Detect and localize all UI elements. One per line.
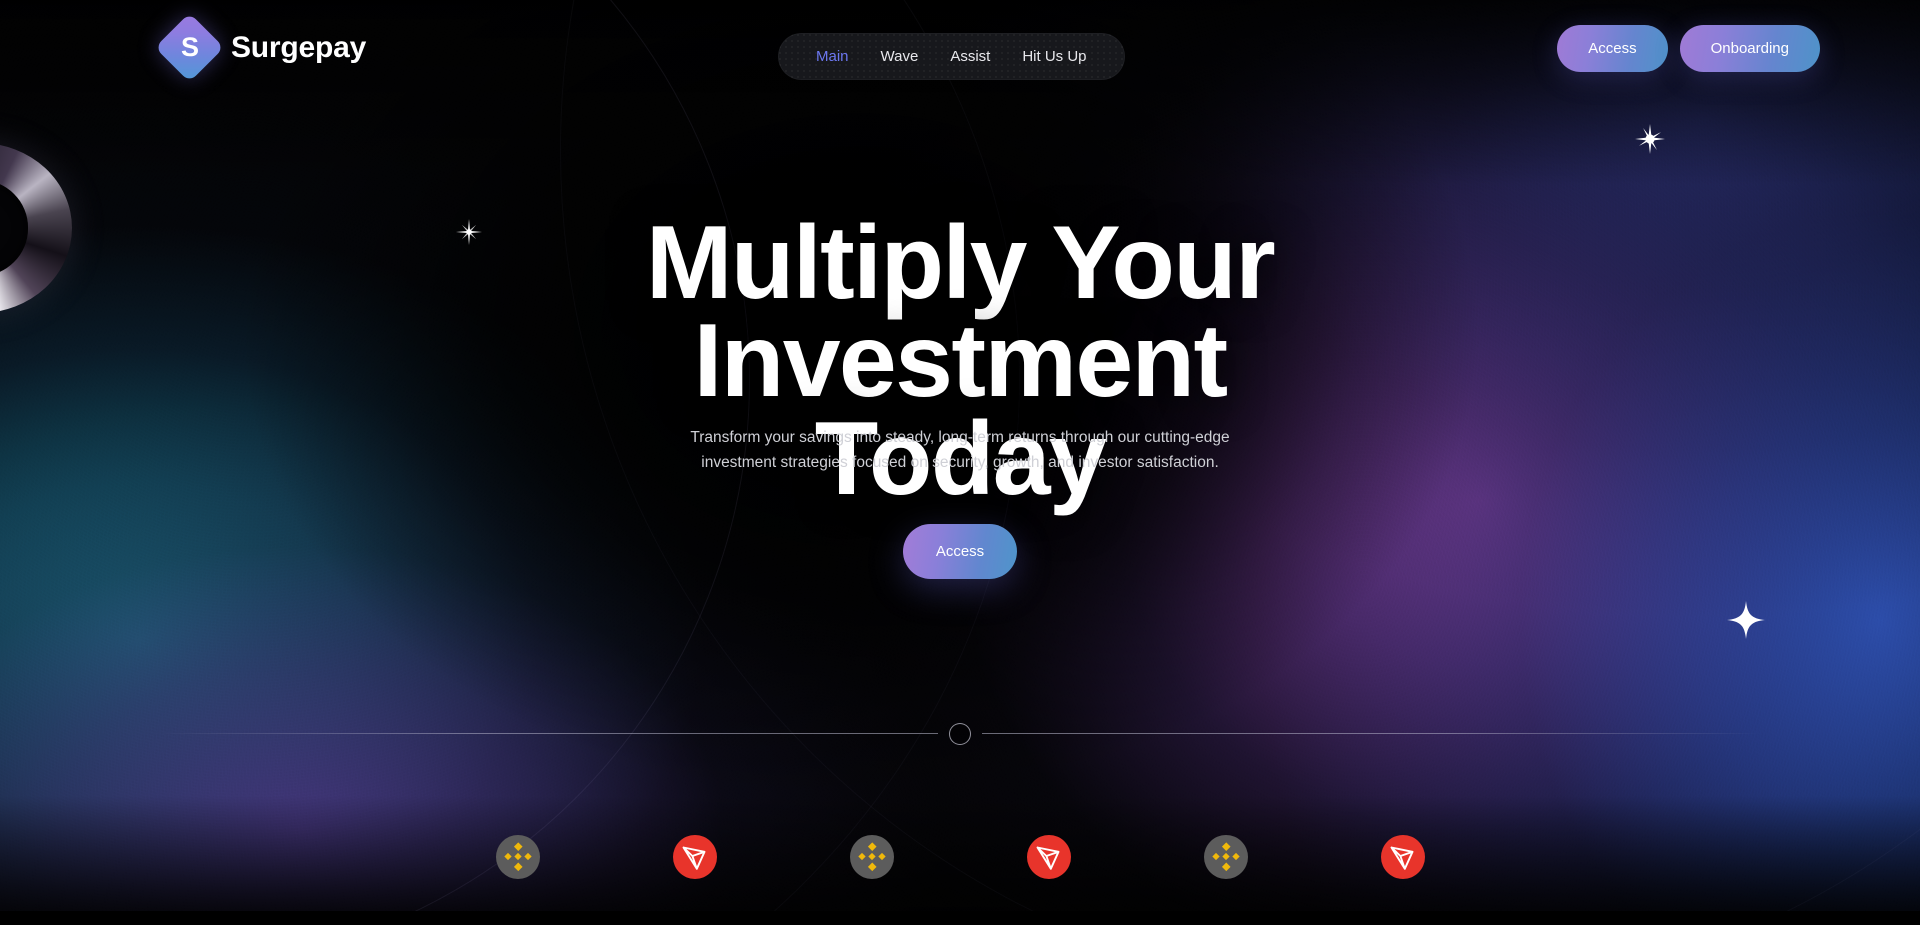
divider-line-right	[982, 733, 1760, 734]
surgepay-diamond-logo-icon: S	[155, 13, 224, 82]
nav-item-hit-us-up[interactable]: Hit Us Up	[1006, 33, 1102, 80]
landing-page-hero: S Surgepay Main Wave Assist Hit Us Up Ac…	[0, 0, 1920, 925]
circle-knob-icon[interactable]	[949, 723, 971, 745]
hero-title-line-1: Multiply Your Investment	[646, 205, 1274, 419]
onboarding-button[interactable]: Onboarding	[1680, 25, 1820, 72]
sparkle-star-top-right-icon	[1633, 122, 1667, 156]
brand-name: Surgepay	[231, 31, 366, 65]
header-actions: Access Onboarding	[1557, 25, 1820, 72]
metallic-torus-icon	[0, 143, 72, 313]
binance-coin-icon	[850, 835, 894, 879]
tron-coin-icon	[673, 835, 717, 879]
divider-line-left	[160, 733, 938, 734]
main-navigation: Main Wave Assist Hit Us Up	[778, 33, 1125, 80]
nav-item-assist[interactable]: Assist	[934, 33, 1006, 80]
site-header: S Surgepay Main Wave Assist Hit Us Up Ac…	[0, 0, 1920, 110]
nav-item-wave[interactable]: Wave	[865, 33, 935, 80]
section-divider	[160, 733, 1760, 735]
sparkle-star-right-icon	[1726, 600, 1766, 640]
brand-logo[interactable]: S Surgepay	[165, 23, 366, 72]
supported-coins-strip	[0, 835, 1920, 879]
tron-coin-icon	[1381, 835, 1425, 879]
binance-coin-icon	[1204, 835, 1248, 879]
hero-access-button[interactable]: Access	[903, 524, 1017, 579]
binance-coin-icon	[496, 835, 540, 879]
nav-item-main[interactable]: Main	[800, 33, 865, 80]
hero-subtitle-line-1: Transform your savings into steady, long…	[690, 429, 1229, 446]
hero-subtitle-line-2: investment strategies focused on securit…	[701, 454, 1219, 471]
page-bottom-bar	[0, 911, 1920, 925]
access-button[interactable]: Access	[1557, 25, 1667, 72]
tron-coin-icon	[1027, 835, 1071, 879]
logo-letter: S	[181, 34, 198, 61]
hero-subtitle: Transform your savings into steady, long…	[660, 425, 1260, 475]
